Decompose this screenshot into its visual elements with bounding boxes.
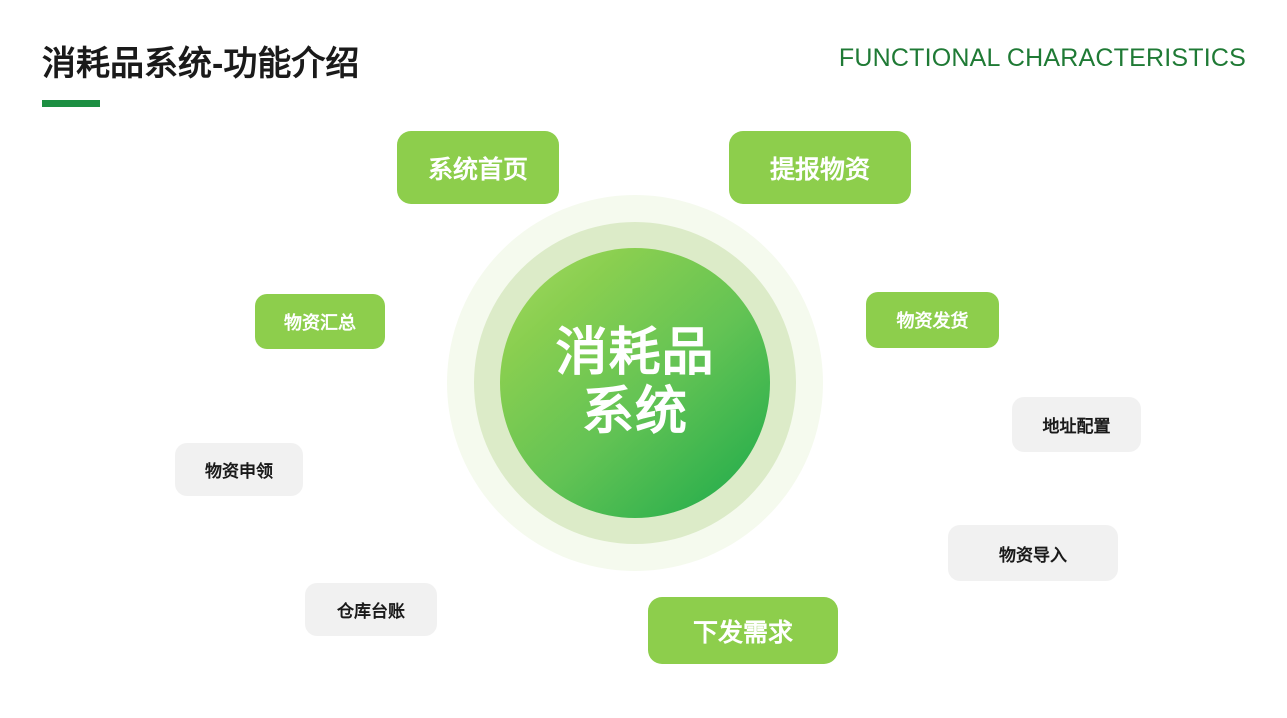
node-label: 下发需求: [693, 613, 793, 649]
node-label: 提报物资: [770, 150, 870, 186]
node-material-import[interactable]: 物资导入: [948, 525, 1118, 581]
hub-core-label: 消耗品 系统: [555, 324, 714, 443]
node-dispatch-requirement[interactable]: 下发需求: [648, 597, 838, 664]
page-title: 消耗品系统-功能介绍: [42, 36, 359, 85]
node-label: 物资发货: [897, 307, 969, 333]
node-material-shipment[interactable]: 物资发货: [866, 292, 999, 348]
title-accent-rule: [42, 100, 100, 107]
node-material-requisition[interactable]: 物资申领: [175, 443, 303, 496]
node-label: 仓库台账: [337, 597, 405, 622]
section-eyebrow-label: FUNCTIONAL CHARACTERISTICS: [839, 44, 1246, 73]
node-label: 物资导入: [999, 541, 1067, 566]
node-label: 物资申领: [205, 457, 273, 482]
node-label: 物资汇总: [284, 309, 356, 335]
node-system-homepage[interactable]: 系统首页: [397, 131, 559, 204]
node-label: 系统首页: [428, 150, 528, 186]
hub-core-circle: 消耗品 系统: [500, 248, 770, 518]
node-material-summary[interactable]: 物资汇总: [255, 294, 385, 349]
node-report-materials[interactable]: 提报物资: [729, 131, 911, 204]
node-address-configuration[interactable]: 地址配置: [1012, 397, 1141, 452]
slide-canvas: 消耗品系统-功能介绍 FUNCTIONAL CHARACTERISTICS 消耗…: [0, 0, 1287, 718]
node-warehouse-ledger[interactable]: 仓库台账: [305, 583, 437, 636]
node-label: 地址配置: [1043, 412, 1111, 437]
